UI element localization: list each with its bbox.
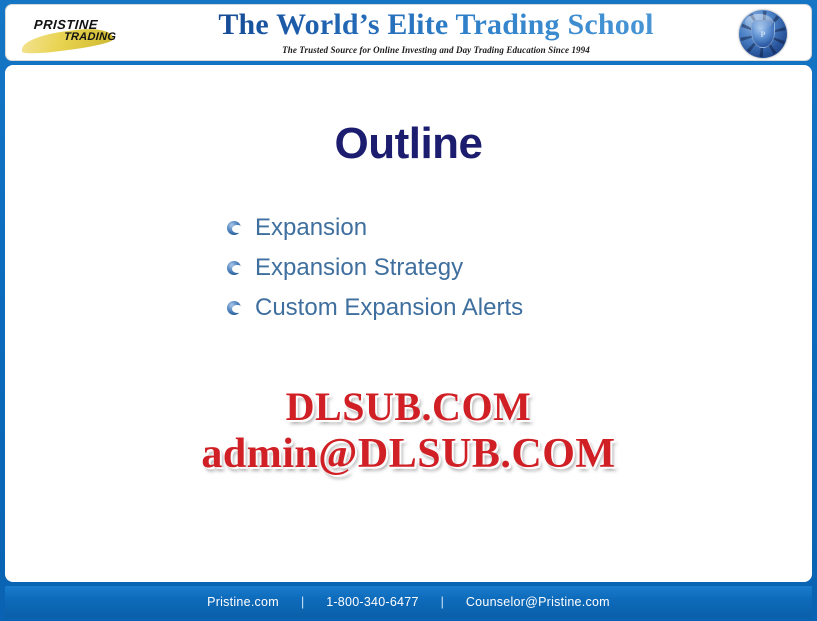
slide-header: PRISTINE TRADING The World’s Elite Tradi… <box>5 4 812 61</box>
sphere-bullet-icon <box>227 221 241 235</box>
logo-text-trading: TRADING <box>64 31 117 43</box>
footer-phone[interactable]: 1-800-340-6477 <box>326 595 418 609</box>
watermark: DLSUB.COM admin@DLSUB.COM <box>5 383 812 479</box>
watermark-site: DLSUB.COM <box>5 383 812 430</box>
header-title: The World’s Elite Trading School <box>171 9 701 41</box>
logo-text-pristine: PRISTINE <box>33 17 98 32</box>
crest-gloss-highlight <box>745 14 773 30</box>
slide-footer: Pristine.com | 1-800-340-6477 | Counselo… <box>5 586 812 618</box>
list-item: Custom Expansion Alerts <box>227 288 587 328</box>
presentation-slide: PRISTINE TRADING The World’s Elite Tradi… <box>0 0 817 621</box>
footer-website[interactable]: Pristine.com <box>207 595 279 609</box>
list-item: Expansion <box>227 208 587 248</box>
footer-separator: | <box>419 595 466 609</box>
pristine-crest-badge-icon: P <box>739 10 787 58</box>
list-item: Expansion Strategy <box>227 248 587 288</box>
sphere-bullet-icon <box>227 301 241 315</box>
outline-bullet-list: Expansion Expansion Strategy Custom Expa… <box>227 208 587 328</box>
slide-body: Outline Expansion Expansion Strategy Cus… <box>5 65 812 582</box>
footer-separator: | <box>279 595 326 609</box>
footer-email[interactable]: Counselor@Pristine.com <box>466 595 610 609</box>
header-text-group: The World’s Elite Trading School The Tru… <box>171 9 701 56</box>
page-title: Outline <box>5 120 812 168</box>
list-item-label: Custom Expansion Alerts <box>255 294 523 322</box>
sphere-bullet-icon <box>227 261 241 275</box>
list-item-label: Expansion <box>255 214 367 242</box>
watermark-email: admin@DLSUB.COM <box>5 430 812 479</box>
list-item-label: Expansion Strategy <box>255 254 463 282</box>
header-tagline: The Trusted Source for Online Investing … <box>171 44 701 56</box>
pristine-trading-logo: PRISTINE TRADING <box>20 14 170 54</box>
